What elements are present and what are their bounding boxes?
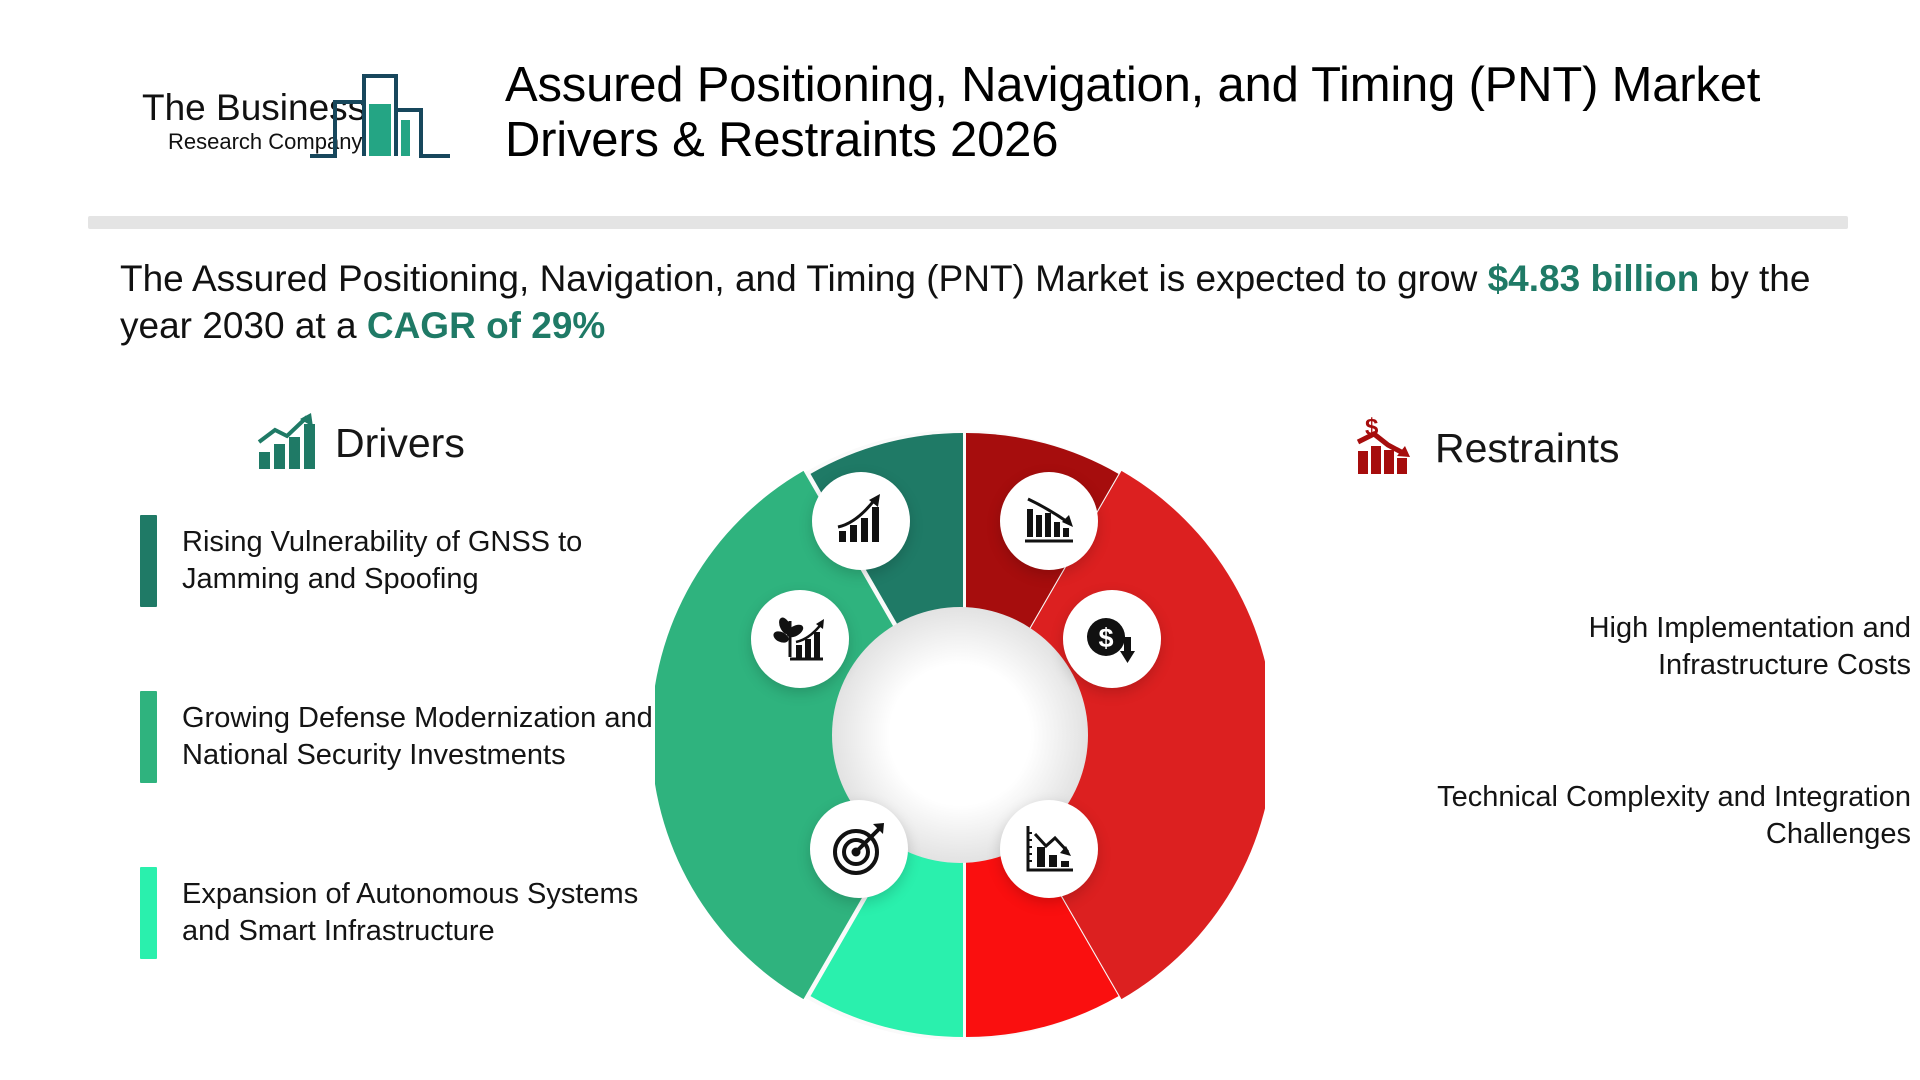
svg-text:$: $: [1365, 415, 1379, 441]
wheel-badge-target: [810, 800, 908, 898]
declining-bar-chart-dollar-icon: $: [1355, 415, 1417, 482]
logo-bar-fill-1: [369, 104, 391, 156]
summary-part1: The Assured Positioning, Navigation, and…: [120, 258, 1488, 299]
wheel-badge-declining-bars: [1000, 472, 1098, 570]
driver-accent-bar-3: [140, 867, 157, 959]
market-value: $4.83 billion: [1488, 258, 1700, 299]
driver-label-3: Expansion of Autonomous Systems and Smar…: [182, 867, 682, 959]
restraint-item-1: High Implementation and Infrastructure C…: [1300, 600, 1920, 694]
header-divider: [88, 216, 1848, 229]
restraint-label-2: Technical Complexity and Integration Cha…: [1411, 769, 1911, 863]
declining-bars-arrow-icon: [1019, 491, 1079, 551]
drivers-list: Rising Vulnerability of GNSS to Jamming …: [140, 515, 740, 1043]
declining-line-bars-icon: [1019, 819, 1079, 879]
restraint-label-1: High Implementation and Infrastructure C…: [1411, 600, 1911, 694]
driver-label-2: Growing Defense Modernization and Nation…: [182, 691, 682, 783]
drivers-restraints-wheel: $: [655, 430, 1265, 1040]
driver-accent-bar-2: [140, 691, 157, 783]
target-dart-icon: [829, 819, 889, 879]
svg-text:$: $: [1098, 623, 1113, 653]
driver-item-2: Growing Defense Modernization and Nation…: [140, 691, 740, 783]
restraint-item-2: Technical Complexity and Integration Cha…: [1300, 769, 1920, 863]
restraints-heading-label: Restraints: [1435, 425, 1620, 472]
driver-item-3: Expansion of Autonomous Systems and Smar…: [140, 867, 740, 959]
restraints-list: High Implementation and Infrastructure C…: [1300, 600, 1920, 947]
logo-line1-text: The Business: [142, 87, 366, 128]
growth-curve-bars-icon: [831, 491, 891, 551]
drivers-heading: Drivers: [255, 410, 465, 477]
growth-bar-chart-arrow-up-icon: [255, 410, 317, 477]
drivers-heading-label: Drivers: [335, 420, 465, 467]
logo-bar-fill-2: [401, 120, 410, 156]
wheel-badge-dollar-down: $: [1063, 590, 1161, 688]
driver-item-1: Rising Vulnerability of GNSS to Jamming …: [140, 515, 740, 607]
cagr-value: CAGR of 29%: [367, 305, 605, 346]
company-logo: The Business Research Company: [140, 62, 470, 167]
wheel-segments: [655, 430, 1265, 1040]
header: The Business Research Company Assured Po…: [0, 0, 1920, 200]
wheel-badge-declining-line: [1000, 800, 1098, 898]
page-title: Assured Positioning, Navigation, and Tim…: [505, 58, 1835, 168]
wheel-badge-growth-curve: [812, 472, 910, 570]
restraints-heading: $ Restraints: [1355, 415, 1620, 482]
market-summary: The Assured Positioning, Navigation, and…: [120, 255, 1860, 350]
infographic-page: The Business Research Company Assured Po…: [0, 0, 1920, 1080]
driver-label-1: Rising Vulnerability of GNSS to Jamming …: [182, 515, 682, 607]
dollar-arrow-down-icon: $: [1082, 609, 1142, 669]
wheel-badge-plant-growth: [751, 590, 849, 688]
driver-accent-bar-1: [140, 515, 157, 607]
plant-growth-bars-icon: [770, 609, 830, 669]
